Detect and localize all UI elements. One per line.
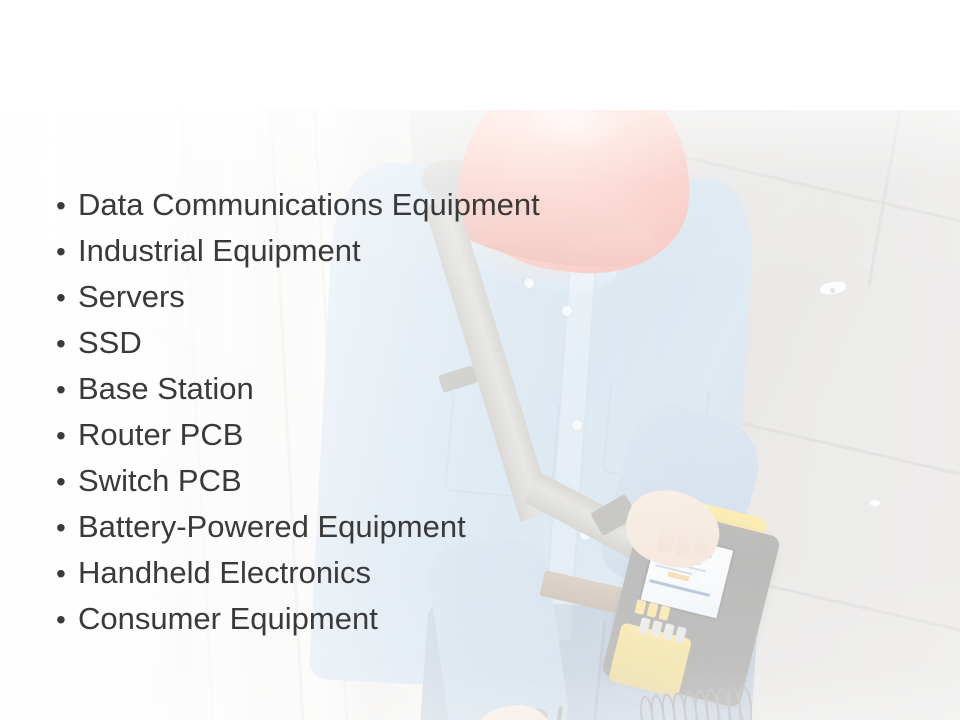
list-item-label: Handheld Electronics [78,554,371,592]
bullet-icon: • [56,514,78,542]
list-item-label: Data Communications Equipment [78,186,540,224]
bullet-icon: • [56,468,78,496]
list-item-label: SSD [78,324,142,362]
bullet-icon: • [56,330,78,358]
bullet-icon: • [56,238,78,266]
list-item-label: Industrial Equipment [78,232,361,270]
list-item: • Switch PCB [56,462,736,508]
title-band [0,0,960,110]
bullet-icon: • [56,376,78,404]
list-item-label: Consumer Equipment [78,600,378,638]
list-item-label: Router PCB [78,416,243,454]
list-item-label: Battery-Powered Equipment [78,508,466,546]
list-item-label: Servers [78,278,185,316]
bullet-icon: • [56,192,78,220]
list-item-label: Switch PCB [78,462,242,500]
bullet-icon: • [56,560,78,588]
list-item: • Industrial Equipment [56,232,736,278]
list-item: • Base Station [56,370,736,416]
bullet-list: • Data Communications Equipment • Indust… [56,186,736,646]
list-item: • Data Communications Equipment [56,186,736,232]
bullet-icon: • [56,284,78,312]
list-item: • SSD [56,324,736,370]
list-item: • Servers [56,278,736,324]
bullet-icon: • [56,422,78,450]
list-item: • Battery-Powered Equipment [56,508,736,554]
bullet-icon: • [56,606,78,634]
list-item: • Handheld Electronics [56,554,736,600]
list-item-label: Base Station [78,370,254,408]
list-item: • Router PCB [56,416,736,462]
list-item: • Consumer Equipment [56,600,736,646]
slide: Applications and Markets • Data Communic… [0,0,960,720]
